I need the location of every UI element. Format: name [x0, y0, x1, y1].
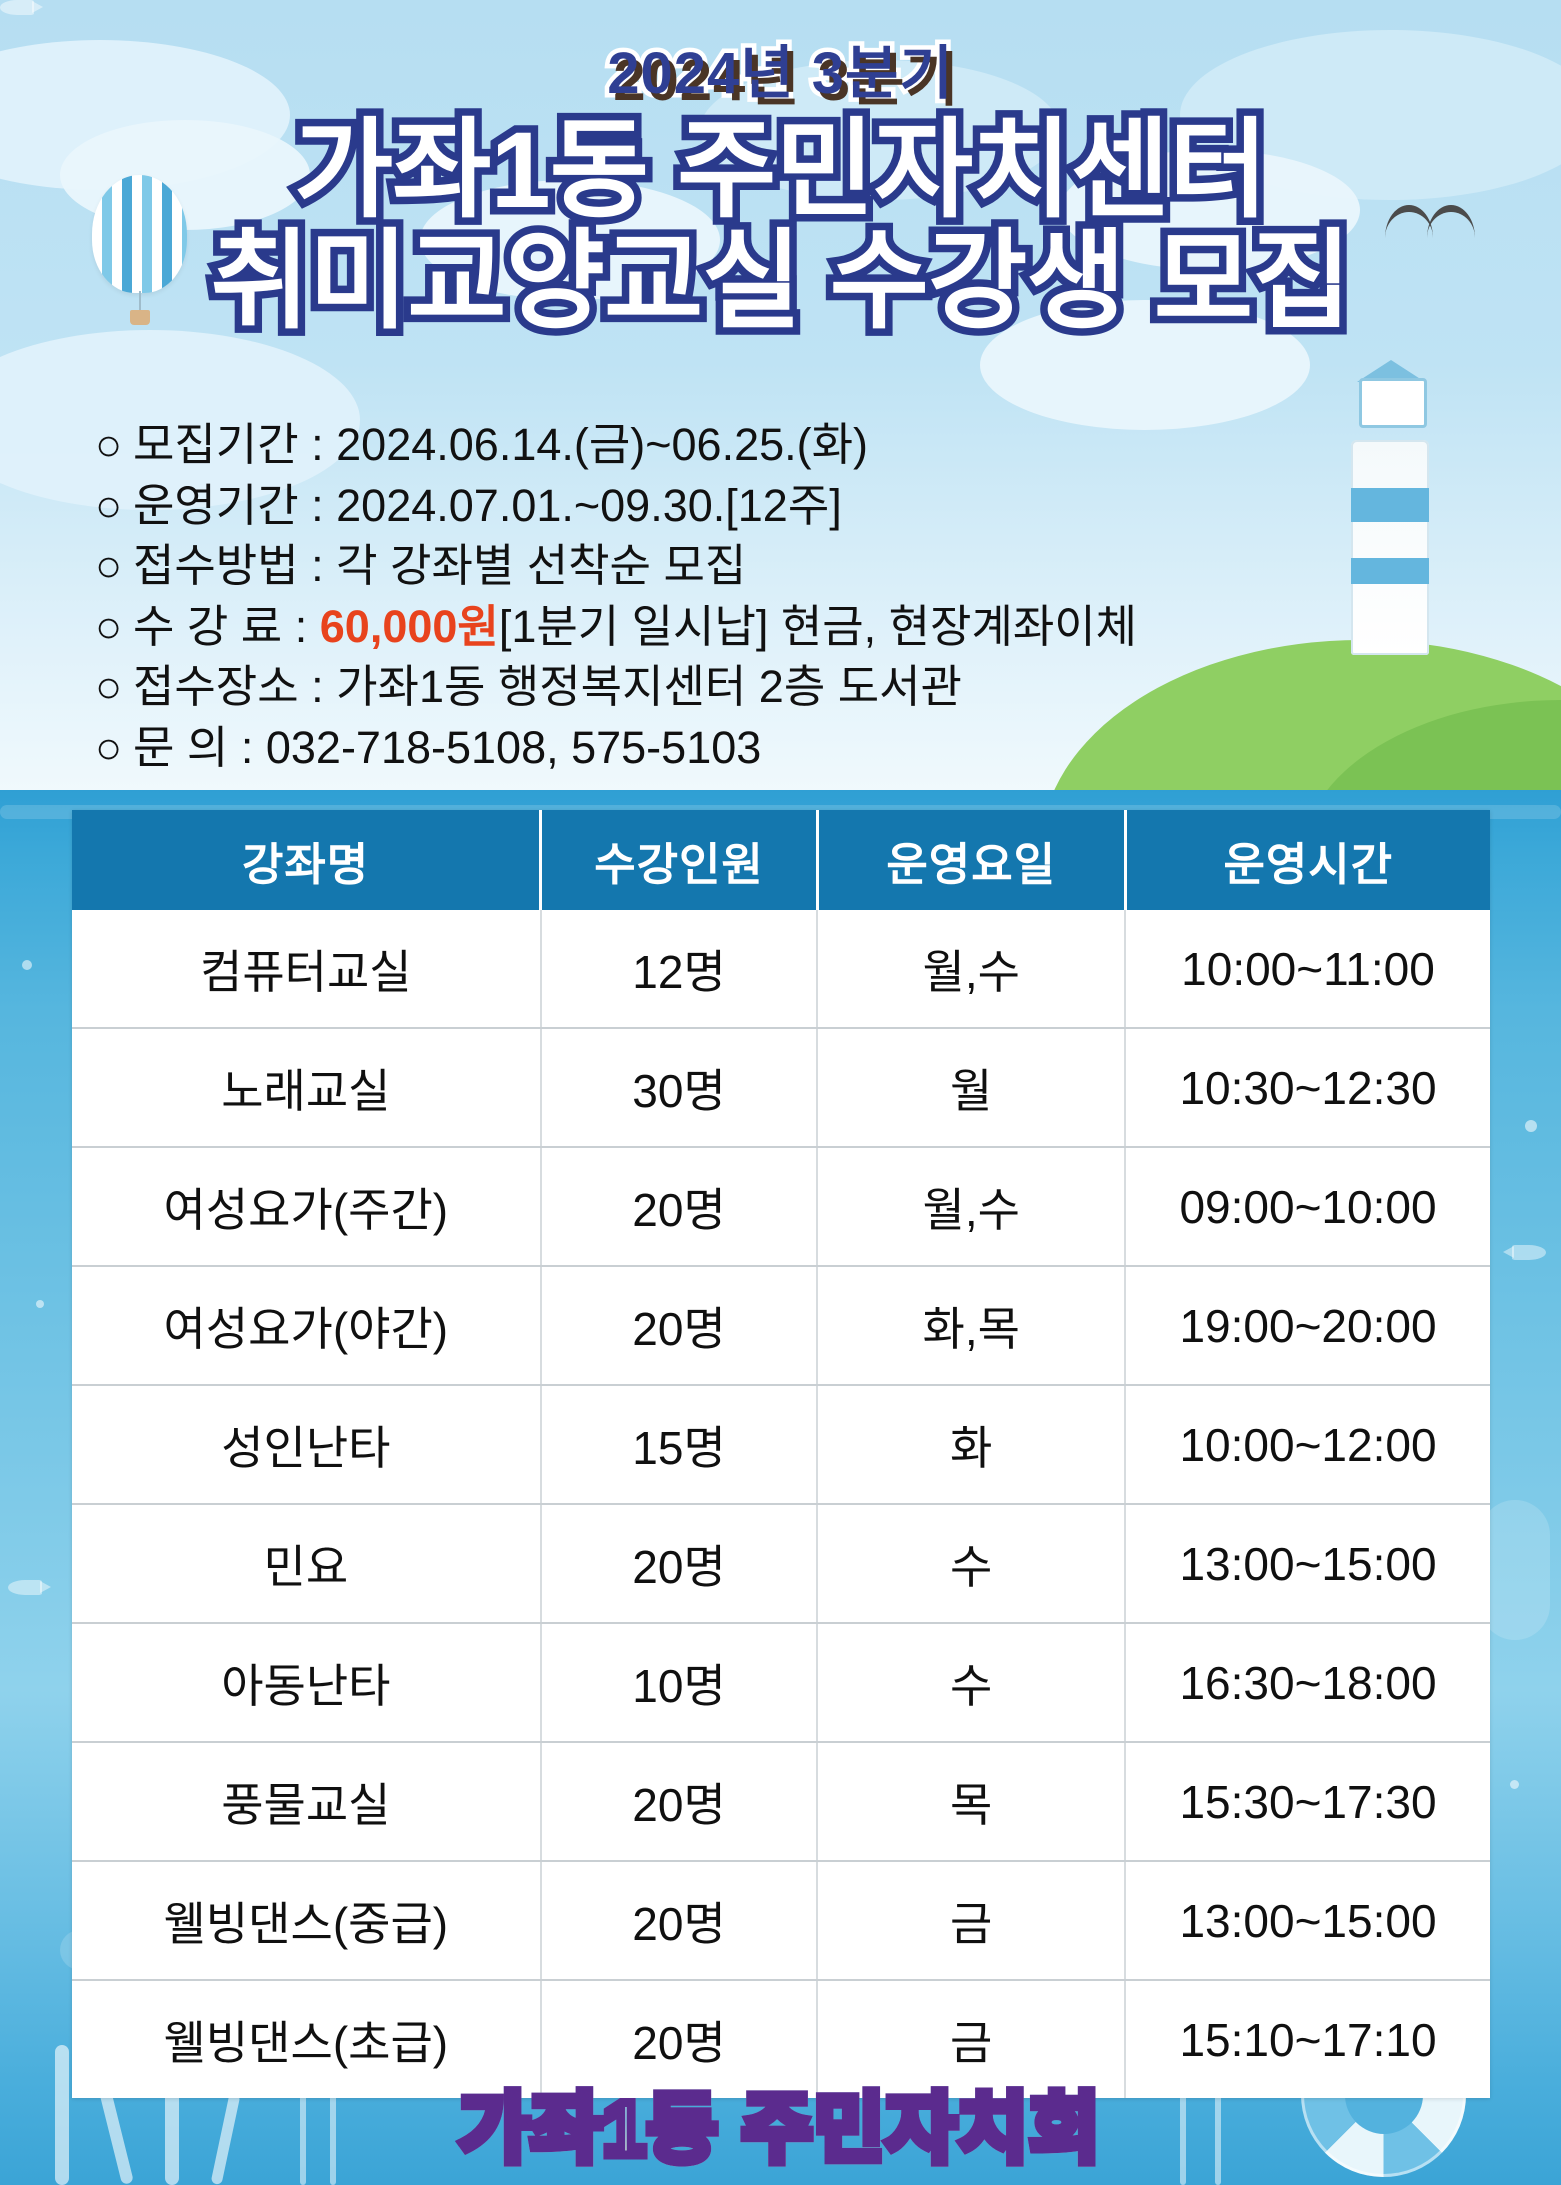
column-header-course-name: 강좌명 [72, 810, 541, 910]
poster-heading: 2024년 3분기 가좌1동 주민자치센터 취미교양교실 수강생 모집 [0, 0, 1561, 336]
cell-days: 월,수 [817, 1147, 1125, 1266]
cell-capacity: 20명 [541, 1742, 818, 1861]
column-header-capacity: 수강인원 [541, 810, 818, 910]
poster-kicker: 2024년 3분기 [0, 26, 1561, 110]
info-value: 2024.07.01.~09.30.[12주] [336, 480, 842, 531]
cell-days: 목 [817, 1742, 1125, 1861]
info-label: 접수방법 [133, 536, 299, 597]
cell-capacity: 20명 [541, 1861, 818, 1980]
cell-course-name: 노래교실 [72, 1028, 541, 1147]
bullet-icon: ○ [95, 476, 133, 537]
cell-days: 화 [817, 1385, 1125, 1504]
course-table-body: 컴퓨터교실 12명 월,수 10:00~11:00 노래교실 30명 월 10:… [72, 910, 1490, 2098]
info-label: 접수장소 [133, 657, 299, 718]
info-separator: : [311, 419, 324, 470]
info-separator: : [311, 480, 324, 531]
cell-course-name: 성인난타 [72, 1385, 541, 1504]
cell-days: 월,수 [817, 910, 1125, 1028]
cell-capacity: 15명 [541, 1385, 818, 1504]
cell-days: 금 [817, 1861, 1125, 1980]
table-row: 성인난타 15명 화 10:00~12:00 [72, 1385, 1490, 1504]
table-row: 민요 20명 수 13:00~15:00 [72, 1504, 1490, 1623]
cell-capacity: 12명 [541, 910, 818, 1028]
info-value: 각 강좌별 선착순 모집 [336, 540, 746, 591]
bullet-icon: ○ [95, 718, 133, 779]
cell-capacity: 10명 [541, 1623, 818, 1742]
table-row: 풍물교실 20명 목 15:30~17:30 [72, 1742, 1490, 1861]
cell-time: 13:00~15:00 [1125, 1504, 1490, 1623]
cell-capacity: 20명 [541, 1266, 818, 1385]
cell-course-name: 컴퓨터교실 [72, 910, 541, 1028]
cell-time: 10:00~12:00 [1125, 1385, 1490, 1504]
info-value: 가좌1동 행정복지센터 2층 도서관 [336, 661, 962, 712]
info-list: ○모집기간 : 2024.06.14.(금)~06.25.(화) ○운영기간 :… [95, 415, 1137, 778]
info-label: 모집기간 [133, 415, 299, 476]
bubble-decoration [1525, 1120, 1537, 1132]
bullet-icon: ○ [95, 415, 133, 476]
fish-icon [1512, 1245, 1546, 1260]
cell-course-name: 아동난타 [72, 1623, 541, 1742]
cell-time: 10:30~12:30 [1125, 1028, 1490, 1147]
column-header-days: 운영요일 [817, 810, 1125, 910]
page-title: 가좌1동 주민자치센터 취미교양교실 수강생 모집 [0, 114, 1561, 336]
cell-time: 15:30~17:30 [1125, 1742, 1490, 1861]
organization-name: 가좌1동 주민자치회 [459, 2067, 1102, 2177]
cell-days: 수 [817, 1504, 1125, 1623]
info-label: 수 강 료 [133, 597, 282, 658]
info-label: 운영기간 [133, 476, 299, 537]
cell-course-name: 여성요가(야간) [72, 1266, 541, 1385]
course-table-head: 강좌명 수강인원 운영요일 운영시간 [72, 810, 1490, 910]
info-label: 문 의 [133, 718, 228, 779]
cell-time: 19:00~20:00 [1125, 1266, 1490, 1385]
cell-capacity: 20명 [541, 1147, 818, 1266]
table-header-row: 강좌명 수강인원 운영요일 운영시간 [72, 810, 1490, 910]
cell-days: 월 [817, 1028, 1125, 1147]
cell-course-name: 민요 [72, 1504, 541, 1623]
bullet-icon: ○ [95, 536, 133, 597]
cell-time: 13:00~15:00 [1125, 1861, 1490, 1980]
table-row: 웰빙댄스(중급) 20명 금 13:00~15:00 [72, 1861, 1490, 1980]
cell-days: 수 [817, 1623, 1125, 1742]
water-streak-decoration [1480, 1500, 1550, 1640]
fish-icon [8, 1580, 42, 1595]
info-separator: : [295, 601, 308, 652]
course-table-container: 강좌명 수강인원 운영요일 운영시간 컴퓨터교실 12명 월,수 10:00~1… [72, 810, 1490, 2098]
info-separator: : [241, 722, 254, 773]
lighthouse-decoration [1351, 440, 1429, 655]
info-row-operating-period: ○운영기간 : 2024.07.01.~09.30.[12주] [95, 476, 1137, 537]
page-title-line2: 취미교양교실 수강생 모집 [0, 225, 1561, 336]
poster-root: 2024년 3분기 가좌1동 주민자치센터 취미교양교실 수강생 모집 ○모집기… [0, 0, 1561, 2185]
info-value: 032-718-5108, 575-5103 [266, 722, 761, 773]
cell-days: 화,목 [817, 1266, 1125, 1385]
info-row-application-place: ○접수장소 : 가좌1동 행정복지센터 2층 도서관 [95, 657, 1137, 718]
poster-footer: 가좌1동 주민자치회 [0, 2067, 1561, 2177]
column-header-time: 운영시간 [1125, 810, 1490, 910]
info-value: [1분기 일시납] 현금, 현장계좌이체 [499, 601, 1137, 652]
bubble-decoration [22, 960, 32, 970]
table-row: 여성요가(주간) 20명 월,수 09:00~10:00 [72, 1147, 1490, 1266]
cell-time: 09:00~10:00 [1125, 1147, 1490, 1266]
table-row: 아동난타 10명 수 16:30~18:00 [72, 1623, 1490, 1742]
cell-time: 10:00~11:00 [1125, 910, 1490, 1028]
cell-capacity: 20명 [541, 1504, 818, 1623]
bullet-icon: ○ [95, 597, 133, 658]
fee-amount: 60,000원 [320, 601, 499, 652]
table-row: 여성요가(야간) 20명 화,목 19:00~20:00 [72, 1266, 1490, 1385]
bullet-icon: ○ [95, 657, 133, 718]
info-row-recruit-period: ○모집기간 : 2024.06.14.(금)~06.25.(화) [95, 415, 1137, 476]
info-value: 2024.06.14.(금)~06.25.(화) [336, 419, 868, 470]
course-table: 강좌명 수강인원 운영요일 운영시간 컴퓨터교실 12명 월,수 10:00~1… [72, 810, 1490, 2098]
cell-capacity: 30명 [541, 1028, 818, 1147]
table-row: 컴퓨터교실 12명 월,수 10:00~11:00 [72, 910, 1490, 1028]
cell-course-name: 웰빙댄스(중급) [72, 1861, 541, 1980]
table-row: 노래교실 30명 월 10:30~12:30 [72, 1028, 1490, 1147]
info-separator: : [311, 540, 324, 591]
page-title-line1: 가좌1동 주민자치센터 [294, 109, 1267, 230]
cell-course-name: 여성요가(주간) [72, 1147, 541, 1266]
cell-time: 16:30~18:00 [1125, 1623, 1490, 1742]
bubble-decoration [36, 1300, 44, 1308]
info-row-tuition-fee: ○수 강 료 : 60,000원[1분기 일시납] 현금, 현장계좌이체 [95, 597, 1137, 658]
cell-course-name: 풍물교실 [72, 1742, 541, 1861]
info-row-application-method: ○접수방법 : 각 강좌별 선착순 모집 [95, 536, 1137, 597]
info-row-contact: ○문 의 : 032-718-5108, 575-5103 [95, 718, 1137, 779]
bubble-decoration [1510, 1780, 1519, 1789]
info-separator: : [311, 661, 324, 712]
